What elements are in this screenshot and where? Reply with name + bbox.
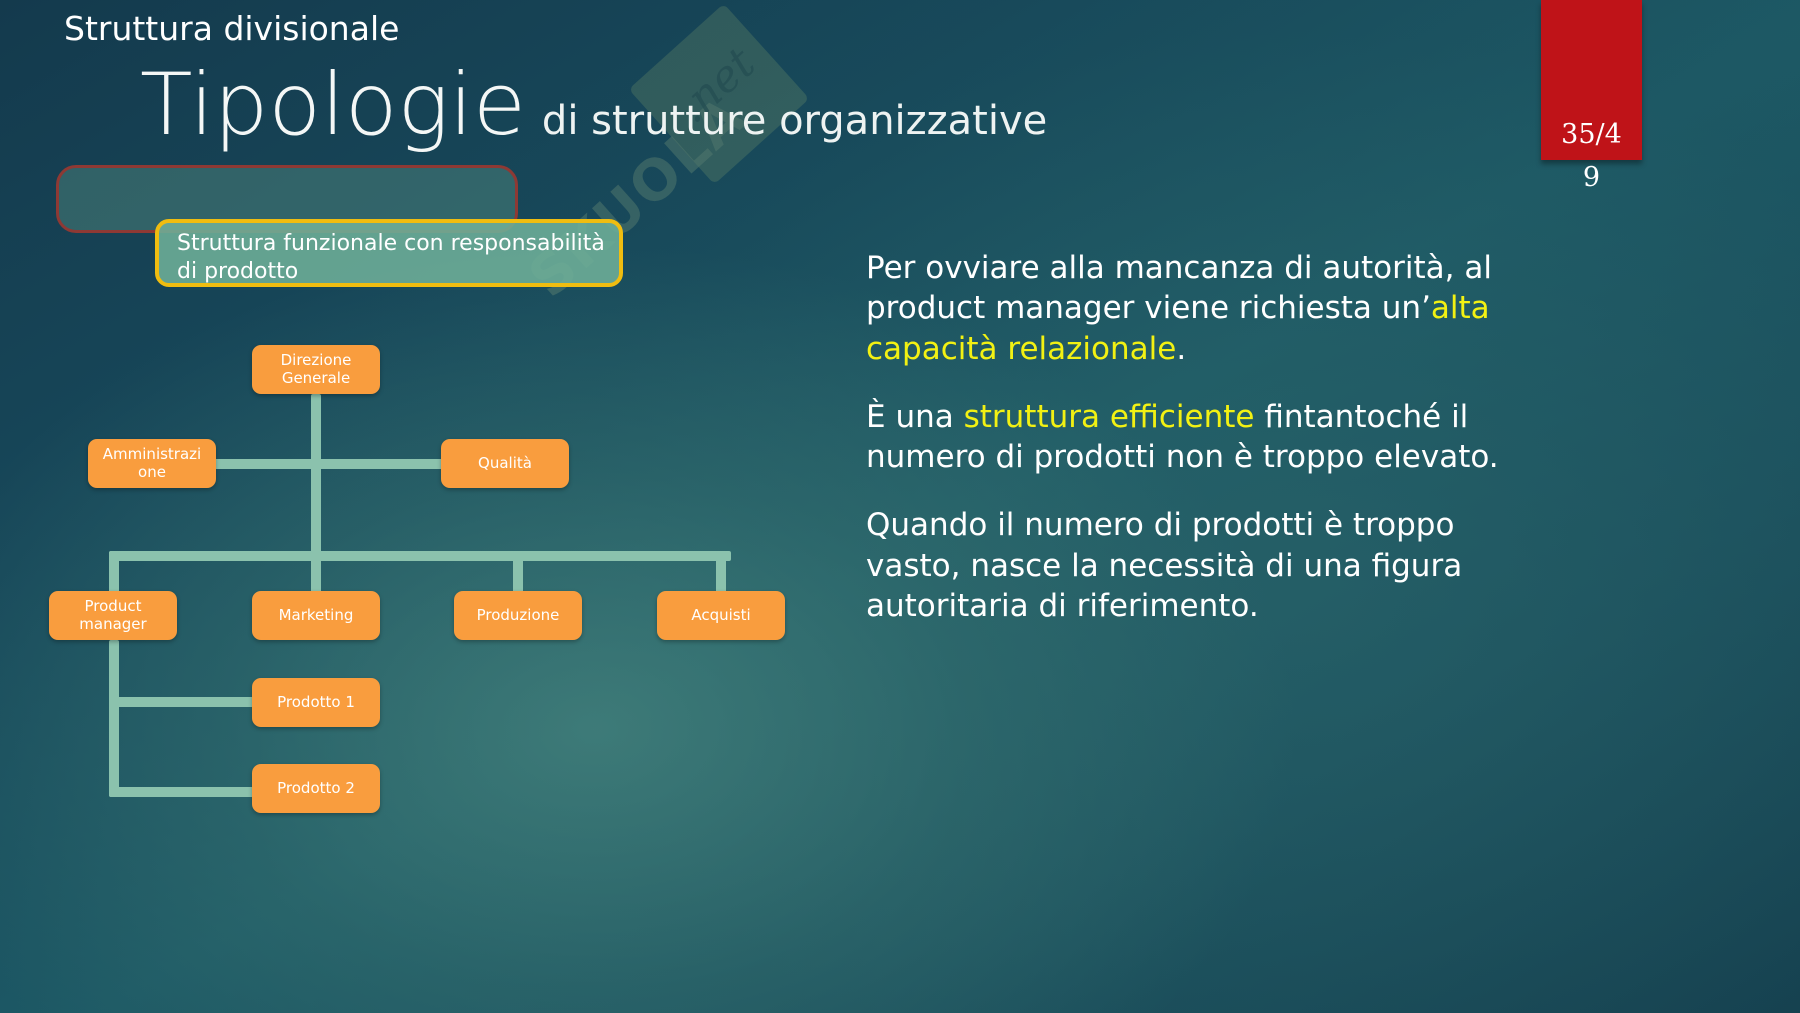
connector-drop-marketing [311, 551, 321, 595]
connector-trunk-vertical [311, 394, 321, 560]
paragraph-p2: È una struttura efficiente fintantoché i… [866, 397, 1546, 478]
org-node-acquisti: Acquisti [657, 591, 785, 640]
org-node-produzione: Produzione [454, 591, 582, 640]
page-number-overflow: 9 [1541, 162, 1642, 193]
text-run: Quando il numero di prodotti è troppo va… [866, 507, 1462, 624]
connector-main-bus [109, 551, 731, 561]
org-node-prodotto-2: Prodotto 2 [252, 764, 380, 813]
org-node-amministrazione: Amministrazi one [88, 439, 216, 488]
page-number-banner: 35/4 [1541, 0, 1642, 160]
paragraph-p1: Per ovviare alla mancanza di autorità, a… [866, 248, 1546, 369]
org-node-product-manager: Product manager [49, 591, 177, 640]
text-run: È una [866, 399, 964, 435]
org-node-prodotto-1: Prodotto 1 [252, 678, 380, 727]
connector-prodotto-1 [109, 697, 259, 707]
text-run: . [1176, 331, 1186, 367]
connector-drop-acquisti [716, 551, 726, 595]
org-node-qualita: Qualità [441, 439, 569, 488]
connector-staff-horizontal [212, 459, 445, 469]
slide-canvas: SKUOLA .net Tipologie di strutture organ… [0, 0, 1800, 1013]
highlighted-text: struttura efficiente [964, 399, 1255, 435]
org-node-marketing: Marketing [252, 591, 380, 640]
page-number: 35/4 [1541, 119, 1642, 150]
org-node-direzione: Direzione Generale [252, 345, 380, 394]
org-chart: Direzione GeneraleAmministrazi oneQualit… [0, 0, 860, 1013]
connector-prodotto-2 [109, 787, 259, 797]
paragraph-p3: Quando il numero di prodotti è troppo va… [866, 505, 1546, 626]
connector-product-spine [109, 640, 119, 797]
connector-drop-produzione [513, 551, 523, 595]
connector-drop-product-manager [109, 551, 119, 595]
body-copy: Per ovviare alla mancanza di autorità, a… [866, 248, 1546, 654]
text-run: Per ovviare alla mancanza di autorità, a… [866, 250, 1492, 326]
paragraph-list: Per ovviare alla mancanza di autorità, a… [866, 248, 1546, 626]
